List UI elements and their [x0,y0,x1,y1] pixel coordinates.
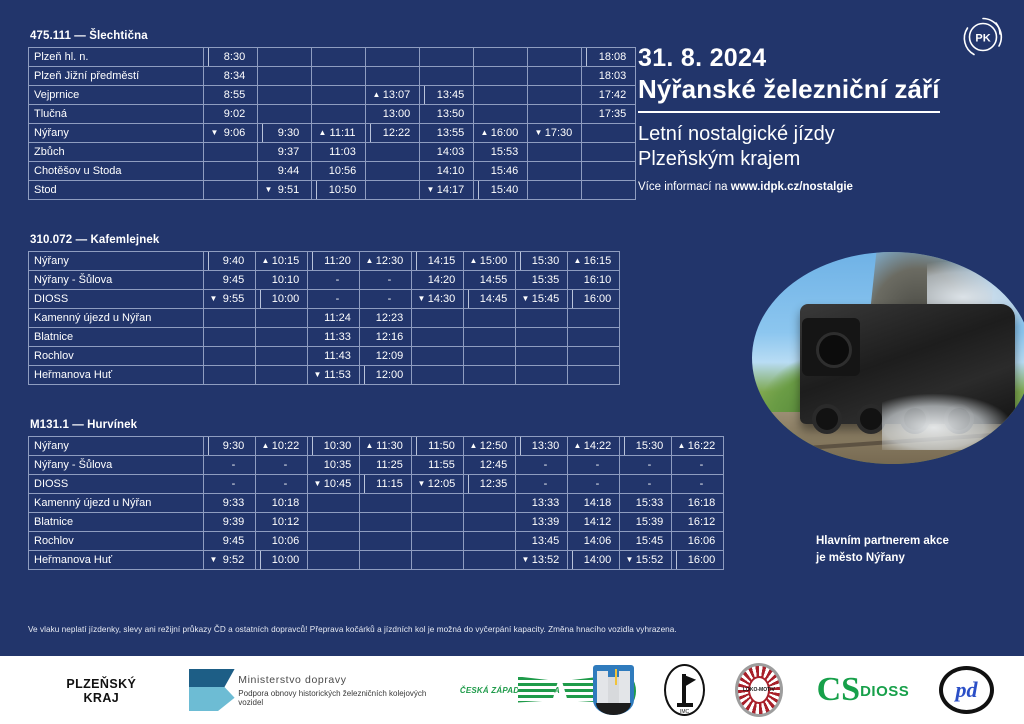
time-cell: ▲14:22 [568,437,620,456]
time-cell: ▲10:00 [256,290,308,309]
time-cell: ▲ [366,162,420,181]
table-row: Heřmanova Huť▲▲▼11:53▲12:00▲▲▲▲ [29,366,620,385]
ministerstvo-dopravy-label: Ministerstvo dopravy [238,674,428,686]
time-cell: ▲12:30 [360,252,412,271]
time-cell: ▲ [412,366,464,385]
time-cell: ▲14:20 [412,271,464,290]
time-cell: ▲ [568,328,620,347]
time-cell: ▲14:55 [464,271,516,290]
time-value: 10:06 [270,535,302,547]
plzensky-kraj-logo: PLZEŇSKÝ KRAJ [48,656,155,724]
time-cell: ▲15:39 [620,513,672,532]
time-value: 13:07 [381,89,413,101]
time-value: 11:43 [322,350,354,362]
time-cell: ▲ [204,366,256,385]
connector-line [208,48,209,66]
time-value: 14:15 [426,255,458,267]
connector-line [624,437,625,455]
time-cell: ▲11:20 [308,252,360,271]
time-cell: ▲- [568,456,620,475]
event-subtitle-line1: Letní nostalgické jízdy [638,122,1008,147]
pk-logo-icon: PK [960,14,1006,60]
page-title: Nýřanské železniční září [638,74,940,113]
time-value: 15:45 [634,535,666,547]
connector-line [468,290,469,308]
connector-line [424,86,425,104]
time-cell: ▲ [420,48,474,67]
time-value: 17:35 [597,108,629,120]
time-value: 14:06 [582,535,614,547]
table-row: Stod▲▼9:51▲10:50▲▼14:17▲15:40▲▲ [29,181,636,200]
poster-header: 31. 8. 2024 Nýřanské železniční září Let… [638,44,1008,193]
time-cell: ▲- [204,475,256,494]
time-value: - [218,459,250,471]
time-cell: ▲ [256,347,308,366]
time-value: 14:22 [582,440,614,452]
time-cell: ▲ [366,48,420,67]
time-cell: ▲ [360,513,412,532]
partner-note: Hlavním partnerem akce je město Nýřany [816,533,1016,566]
time-value: 15:45 [530,293,562,305]
time-cell: ▲13:33 [516,494,568,513]
time-value: - [634,478,666,490]
time-value: 8:55 [219,89,251,101]
time-cell: ▲12:09 [360,347,412,366]
time-cell: ▲17:42 [582,86,636,105]
ministerstvo-dopravy-logo: Ministerstvo dopravy Podpora obnovy hist… [189,656,429,724]
time-cell: ▲11:33 [308,328,360,347]
time-cell: ▲11:11 [312,124,366,143]
time-value: 13:45 [530,535,562,547]
time-value: 11:20 [322,255,354,267]
time-value: 12:30 [374,255,406,267]
time-cell: ▲- [516,475,568,494]
time-value: 11:03 [327,146,359,158]
time-value: 11:50 [426,440,458,452]
time-cell: ▲ [412,328,464,347]
time-value: 9:40 [218,255,250,267]
time-cell: ▲ [568,347,620,366]
time-value: - [686,459,718,471]
time-cell: ▲ [464,551,516,570]
time-value: 10:56 [327,165,359,177]
time-cell: ▲ [464,494,516,513]
time-cell: ▲ [412,513,464,532]
time-value: 12:05 [426,478,458,490]
table-row: Chotěšov u Stoda▲▲9:44▲10:56▲▲14:10▲15:4… [29,162,636,181]
stop-name-cell: DIOSS [29,475,204,494]
time-cell: ▲ [474,105,528,124]
time-cell: ▼14:30 [412,290,464,309]
time-cell: ▲- [308,271,360,290]
time-cell: ▲ [312,48,366,67]
time-cell: ▲ [528,143,582,162]
time-value: 14:17 [435,184,467,196]
arrow-down-icon: ▼ [522,295,530,303]
time-cell: ▲- [672,475,724,494]
time-cell: ▲ [256,328,308,347]
arrow-down-icon: ▼ [314,371,322,379]
time-cell: ▲ [312,67,366,86]
table-row: Plzeň hl. n.▲8:30▲▲▲▲▲▲▲18:08 [29,48,636,67]
time-cell: ▲ [582,162,636,181]
ministerstvo-dopravy-text: Ministerstvo dopravy Podpora obnovy hist… [238,674,428,707]
pd-label: pd [939,666,994,714]
time-cell: ▲11:43 [308,347,360,366]
time-cell: ▲9:44 [258,162,312,181]
time-cell: ▲15:46 [474,162,528,181]
timetable-block-2: 310.072 — Kafemlejnek Nýřany▲9:40▲10:15▲… [28,234,798,385]
time-cell: ▲14:10 [420,162,474,181]
time-value: 8:34 [219,70,251,82]
table-row: DIOSS▼9:55▲10:00▲-▲-▼14:30▲14:45▼15:45▲1… [29,290,620,309]
stop-name-cell: Nýřany [29,124,204,143]
time-value: 12:00 [374,369,406,381]
time-cell: ▲9:30 [258,124,312,143]
time-value: 18:03 [597,70,629,82]
time-cell: ▲11:25 [360,456,412,475]
connector-line [478,181,479,199]
table-row: Blatnice▲9:39▲10:12▲▲▲▲▲13:39▲14:12▲15:3… [29,513,724,532]
time-value: 14:45 [478,293,510,305]
time-value: 16:06 [686,535,718,547]
time-cell: ▲ [204,328,256,347]
time-value: 9:02 [219,108,251,120]
arrow-down-icon: ▼ [418,295,426,303]
photo-steam [882,394,1012,450]
time-cell: ▲16:15 [568,252,620,271]
arrow-down-icon: ▼ [626,556,634,564]
stop-name-cell: Nýřany - Šůlova [29,456,204,475]
time-cell: ▲10:15 [256,252,308,271]
time-cell: ▲10:10 [256,271,308,290]
dioss-label: DIOSS [860,683,909,700]
time-cell: ▲ [412,309,464,328]
connector-line [208,252,209,270]
dioss-mark-icon: CS [817,676,860,705]
stop-name-cell: Stod [29,181,204,200]
time-value: 11:24 [322,312,354,324]
time-cell: ▲ [256,309,308,328]
time-cell: ▲16:22 [672,437,724,456]
time-value: 15:40 [489,184,521,196]
time-value: 14:55 [478,274,510,286]
connector-line [520,437,521,455]
time-value: 10:00 [270,293,302,305]
time-cell: ▲13:07 [366,86,420,105]
time-cell: ▲10:18 [256,494,308,513]
time-value: 9:51 [273,184,305,196]
stop-name-cell: Chotěšov u Stoda [29,162,204,181]
time-cell: ▲16:10 [568,271,620,290]
imc-label: IMC [664,709,705,715]
ceska-zapadni-draha-logo: ČESKÁ ZÁPADNÍ DRÁHA [457,656,564,724]
time-value: 14:03 [435,146,467,158]
time-value: 9:06 [219,127,251,139]
time-value: 10:45 [322,478,354,490]
time-cell: ▲- [516,456,568,475]
time-cell: ▲ [258,48,312,67]
ministerstvo-dopravy-mark-icon [189,669,230,711]
timetable-title-3: M131.1 — Hurvínek [30,419,798,431]
timetable-3: Nýřany▲9:30▲10:22▲10:30▲11:30▲11:50▲12:5… [28,436,724,570]
time-cell: ▲- [672,456,724,475]
time-value: 12:35 [478,478,510,490]
time-value: 15:39 [634,516,666,528]
time-value: 8:30 [219,51,251,63]
time-cell: ▲- [256,475,308,494]
connector-line [370,124,371,142]
time-cell: ▲16:00 [568,290,620,309]
time-value: 13:30 [530,440,562,452]
stop-name-cell: Blatnice [29,513,204,532]
time-value: 14:30 [426,293,458,305]
time-value: - [634,459,666,471]
time-cell: ▲8:55 [204,86,258,105]
table-row: Zbůch▲▲9:37▲11:03▲▲14:03▲15:53▲▲ [29,143,636,162]
time-value: 9:30 [218,440,250,452]
time-value: - [530,478,562,490]
time-cell: ▲11:03 [312,143,366,162]
time-cell: ▲- [204,456,256,475]
time-cell: ▲ [528,48,582,67]
time-value: - [374,293,406,305]
time-cell: ▲13:39 [516,513,568,532]
connector-line [260,290,261,308]
time-value: 15:46 [489,165,521,177]
stop-name-cell: Rochlov [29,532,204,551]
time-cell: ▲15:30 [620,437,672,456]
time-cell: ▼9:06 [204,124,258,143]
table-row: Nýřany - Šůlova▲-▲-▲10:35▲11:25▲11:55▲12… [29,456,724,475]
connector-line [312,252,313,270]
time-cell: ▲12:16 [360,328,412,347]
time-value: 11:15 [374,478,406,490]
table-row: Rochlov▲▲▲11:43▲12:09▲▲▲▲ [29,347,620,366]
time-value: 14:20 [426,274,458,286]
time-cell: ▲14:18 [568,494,620,513]
stop-name-cell: Vejprnice [29,86,204,105]
time-cell: ▲9:02 [204,105,258,124]
time-cell: ▲- [256,456,308,475]
time-cell: ▲ [366,181,420,200]
time-value: 16:10 [582,274,614,286]
timetable-1-body: Plzeň hl. n.▲8:30▲▲▲▲▲▲▲18:08Plzeň Jižní… [29,48,636,200]
time-cell: ▲ [464,513,516,532]
connector-line [364,366,365,384]
time-cell: ▲ [412,551,464,570]
connector-line [586,48,587,66]
svg-text:PK: PK [975,33,990,45]
table-row: Kamenný újezd u Nýřan▲▲▲11:24▲12:23▲▲▲▲ [29,309,620,328]
time-cell: ▼17:30 [528,124,582,143]
arrow-down-icon: ▼ [427,186,435,194]
footer-logos: PLZEŇSKÝ KRAJ Ministerstvo dopravy Podpo… [0,656,1024,724]
time-cell: ▲15:33 [620,494,672,513]
table-row: Blatnice▲▲▲11:33▲12:16▲▲▲▲ [29,328,620,347]
stop-name-cell: Blatnice [29,328,204,347]
time-cell: ▲ [308,551,360,570]
time-cell: ▲10:22 [256,437,308,456]
time-value: 13:00 [381,108,413,120]
time-value: 13:33 [530,497,562,509]
time-cell: ▲ [464,532,516,551]
time-value: 9:44 [273,165,305,177]
time-value: 16:00 [686,554,718,566]
stop-name-cell: Kamenný újezd u Nýřan [29,494,204,513]
time-cell: ▲9:40 [204,252,256,271]
time-cell: ▲ [204,162,258,181]
time-cell: ▲ [412,532,464,551]
table-row: Kamenný újezd u Nýřan▲9:33▲10:18▲▲▲▲▲13:… [29,494,724,513]
time-value: - [686,478,718,490]
arrow-up-icon: ▲ [262,442,270,450]
time-value: - [530,459,562,471]
stop-name-cell: Heřmanova Huť [29,551,204,570]
loko-motiv-label: LOKO-MOTIV [735,663,783,717]
dioss-logo: CS DIOSS [817,656,909,724]
time-value: 10:15 [270,255,302,267]
timetable-block-3: M131.1 — Hurvínek Nýřany▲9:30▲10:22▲10:3… [28,419,798,570]
time-cell: ▼15:45 [516,290,568,309]
time-value: 15:33 [634,497,666,509]
more-info-url[interactable]: www.idpk.cz/nostalgie [731,181,853,193]
time-value: 13:50 [435,108,467,120]
time-value: - [322,274,354,286]
arrow-down-icon: ▼ [418,480,426,488]
time-cell: ▲ [258,86,312,105]
loko-motiv-logo: LOKO-MOTIV [735,663,783,717]
time-cell: ▲- [568,475,620,494]
time-cell: ▲14:03 [420,143,474,162]
time-cell: ▲12:50 [464,437,516,456]
time-cell: ▼10:45 [308,475,360,494]
time-cell: ▲ [360,551,412,570]
time-value: 11:11 [327,127,359,139]
time-value: 16:22 [686,440,718,452]
time-cell: ▲9:45 [204,532,256,551]
time-cell: ▼14:17 [420,181,474,200]
time-value: 9:33 [218,497,250,509]
time-value: - [322,293,354,305]
time-value: 15:53 [489,146,521,158]
time-cell: ▲15:45 [620,532,672,551]
timetable-title-1: 475.111 — Šlechtična [30,30,798,42]
time-cell: ▲- [308,290,360,309]
connector-line [262,124,263,142]
time-cell: ▲9:30 [204,437,256,456]
time-value: 11:33 [322,331,354,343]
connector-line [316,181,317,199]
time-cell: ▲ [308,532,360,551]
connector-line [364,475,365,493]
time-value: 14:00 [582,554,614,566]
time-cell: ▲11:15 [360,475,412,494]
time-value: 18:08 [597,51,629,63]
table-row: Rochlov▲9:45▲10:06▲▲▲▲▲13:45▲14:06▲15:45… [29,532,724,551]
time-cell: ▲ [412,494,464,513]
time-value: 15:35 [530,274,562,286]
time-cell: ▲- [620,475,672,494]
time-cell: ▲13:00 [366,105,420,124]
connector-line [312,437,313,455]
stop-name-cell: Kamenný újezd u Nýřan [29,309,204,328]
time-cell: ▲9:37 [258,143,312,162]
time-value: 12:23 [374,312,406,324]
time-cell: ▲13:30 [516,437,568,456]
time-cell: ▲ [474,48,528,67]
time-cell: ▲- [620,456,672,475]
timetable-3-body: Nýřany▲9:30▲10:22▲10:30▲11:30▲11:50▲12:5… [29,437,724,570]
event-subtitle-line2: Plzeňským krajem [638,147,1008,172]
time-cell: ▲15:35 [516,271,568,290]
timetable-1: Plzeň hl. n.▲8:30▲▲▲▲▲▲▲18:08Plzeň Jižní… [28,47,636,200]
time-cell: ▲ [464,309,516,328]
time-cell: ▲ [528,105,582,124]
more-info: Více informací na www.idpk.cz/nostalgie [638,181,1008,193]
connector-line [520,252,521,270]
time-cell: ▲ [474,67,528,86]
time-cell: ▲ [582,181,636,200]
time-cell: ▲ [516,309,568,328]
time-cell: ▲11:50 [412,437,464,456]
time-cell: ▲ [516,328,568,347]
time-value: 10:12 [270,516,302,528]
arrow-down-icon: ▼ [535,129,543,137]
time-cell: ▲10:00 [256,551,308,570]
time-value: 17:30 [543,127,575,139]
time-cell: ▲16:00 [672,551,724,570]
time-value: 15:00 [478,255,510,267]
time-cell: ▲12:23 [360,309,412,328]
time-cell: ▲ [312,86,366,105]
time-cell: ▲14:00 [568,551,620,570]
time-cell: ▲ [420,67,474,86]
time-cell: ▼13:52 [516,551,568,570]
time-cell: ▲15:40 [474,181,528,200]
arrow-down-icon: ▼ [211,129,219,137]
timetable-2-body: Nýřany▲9:40▲10:15▲11:20▲12:30▲14:15▲15:0… [29,252,620,385]
partner-note-line2: je město Nýřany [816,550,1016,567]
time-cell: ▲ [582,143,636,162]
more-info-prefix: Více informací na [638,181,731,193]
time-value: 15:52 [634,554,666,566]
time-cell: ▲ [258,67,312,86]
time-value: 9:30 [273,127,305,139]
time-value: 16:15 [582,255,614,267]
stop-name-cell: Rochlov [29,347,204,366]
time-cell: ▲16:06 [672,532,724,551]
pd-logo: pd [939,666,994,714]
time-value: - [270,478,302,490]
time-cell: ▲- [360,290,412,309]
arrow-up-icon: ▲ [470,257,478,265]
time-value: 16:00 [582,293,614,305]
time-value: 17:42 [597,89,629,101]
time-cell: ▲ [528,86,582,105]
time-cell: ▲11:30 [360,437,412,456]
time-value: - [270,459,302,471]
time-cell: ▲9:45 [204,271,256,290]
time-cell: ▲8:34 [204,67,258,86]
nyrany-crest-logo [593,665,634,715]
time-value: 12:09 [374,350,406,362]
time-value: 9:45 [218,274,250,286]
time-cell: ▲ [360,532,412,551]
time-cell: ▲12:22 [366,124,420,143]
time-value: 12:16 [374,331,406,343]
time-cell: ▲11:55 [412,456,464,475]
